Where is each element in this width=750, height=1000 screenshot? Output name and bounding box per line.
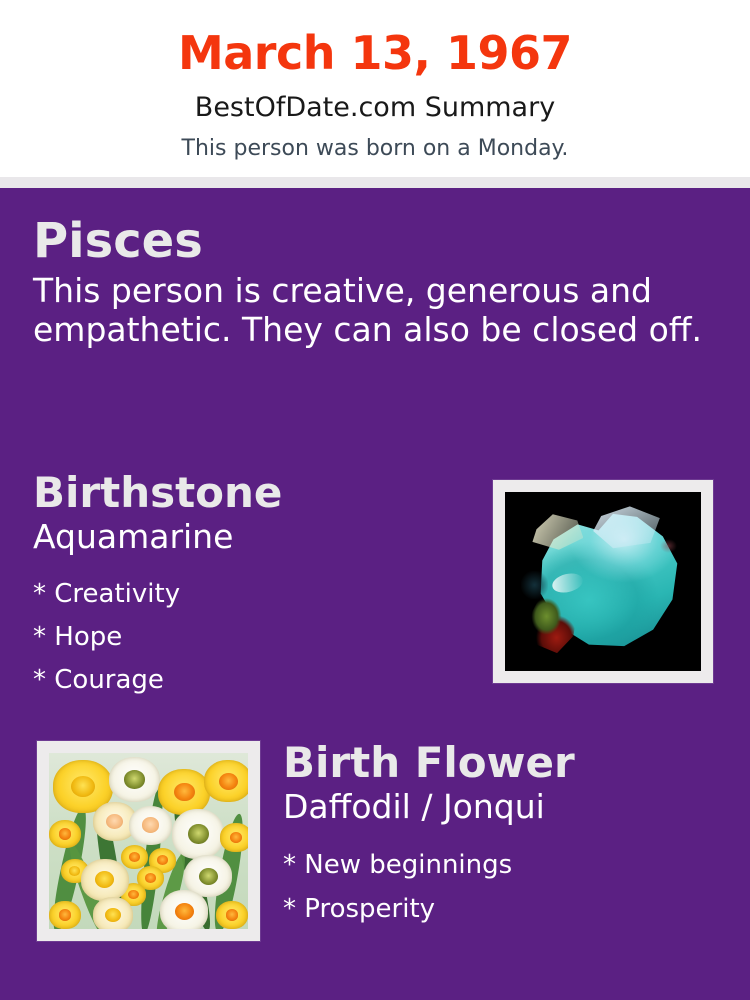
daffodil-bloom — [49, 901, 81, 929]
daffodil-bloom — [81, 859, 129, 901]
daffodil-bloom — [216, 901, 248, 929]
flower-core — [129, 852, 140, 862]
flower-core — [71, 776, 95, 797]
daffodil-bloom — [129, 806, 173, 845]
site-name: BestOfDate.com Summary — [0, 76, 750, 121]
daffodil-bloom — [109, 757, 161, 803]
list-item: * Creativity — [33, 564, 473, 607]
birthstone-image-frame — [493, 480, 713, 683]
flower-core — [145, 873, 156, 883]
summary-card: March 13, 1967 BestOfDate.com Summary Th… — [0, 0, 750, 1000]
birthstone-trait-list: * Creativity * Hope * Courage — [33, 555, 473, 693]
daffodil-bloom — [49, 820, 81, 848]
list-item: * New beginnings — [283, 834, 713, 878]
flower-core — [199, 868, 218, 885]
flower-core — [219, 773, 238, 790]
daffodil-bloom — [172, 809, 224, 858]
flower-core — [188, 824, 209, 844]
daffodil-bloom — [160, 890, 208, 929]
crystal-inclusion-dark — [521, 571, 548, 600]
card-header: March 13, 1967 BestOfDate.com Summary Th… — [0, 0, 750, 177]
daffodil-bloom — [204, 760, 248, 802]
flower-core — [59, 909, 72, 920]
list-item: * Prosperity — [283, 878, 713, 922]
aquamarine-crystal-photo — [505, 492, 701, 671]
flower-core — [59, 828, 72, 839]
zodiac-description: This person is creative, generous and em… — [33, 266, 705, 349]
flower-core — [105, 908, 121, 922]
daffodil-bloom — [220, 823, 248, 851]
birthstone-name: Aquamarine — [33, 515, 473, 555]
header-divider — [0, 177, 750, 188]
page-title: March 13, 1967 — [0, 0, 750, 76]
birth-flower-trait-list: * New beginnings * Prosperity — [283, 825, 713, 922]
birth-flower-section: Birth Flower Daffodil / Jonqui * New beg… — [283, 741, 713, 922]
birthstone-section: Birthstone Aquamarine * Creativity * Hop… — [33, 471, 473, 693]
daffodil-bloom — [121, 845, 149, 870]
flower-core — [175, 903, 194, 920]
birth-flower-heading: Birth Flower — [283, 741, 713, 785]
zodiac-section: Pisces This person is creative, generous… — [33, 216, 713, 350]
list-item: * Courage — [33, 650, 473, 693]
daffodil-bloom — [158, 769, 210, 815]
daffodil-field-photo — [49, 753, 248, 929]
flower-core — [142, 817, 160, 832]
list-item: * Hope — [33, 607, 473, 650]
flower-core — [124, 770, 145, 788]
flower-core — [174, 783, 195, 801]
birth-flower-image-frame — [37, 741, 260, 941]
zodiac-sign-name: Pisces — [33, 216, 713, 266]
birthstone-heading: Birthstone — [33, 471, 473, 515]
birth-flower-name: Daffodil / Jonqui — [283, 785, 713, 825]
flower-core — [226, 909, 239, 920]
content-panel: Pisces This person is creative, generous… — [0, 188, 750, 1000]
header-subtitle: This person was born on a Monday. — [0, 121, 750, 160]
flower-core — [128, 890, 138, 899]
daffodil-bloom — [93, 897, 133, 929]
crystal-speck — [660, 539, 678, 553]
